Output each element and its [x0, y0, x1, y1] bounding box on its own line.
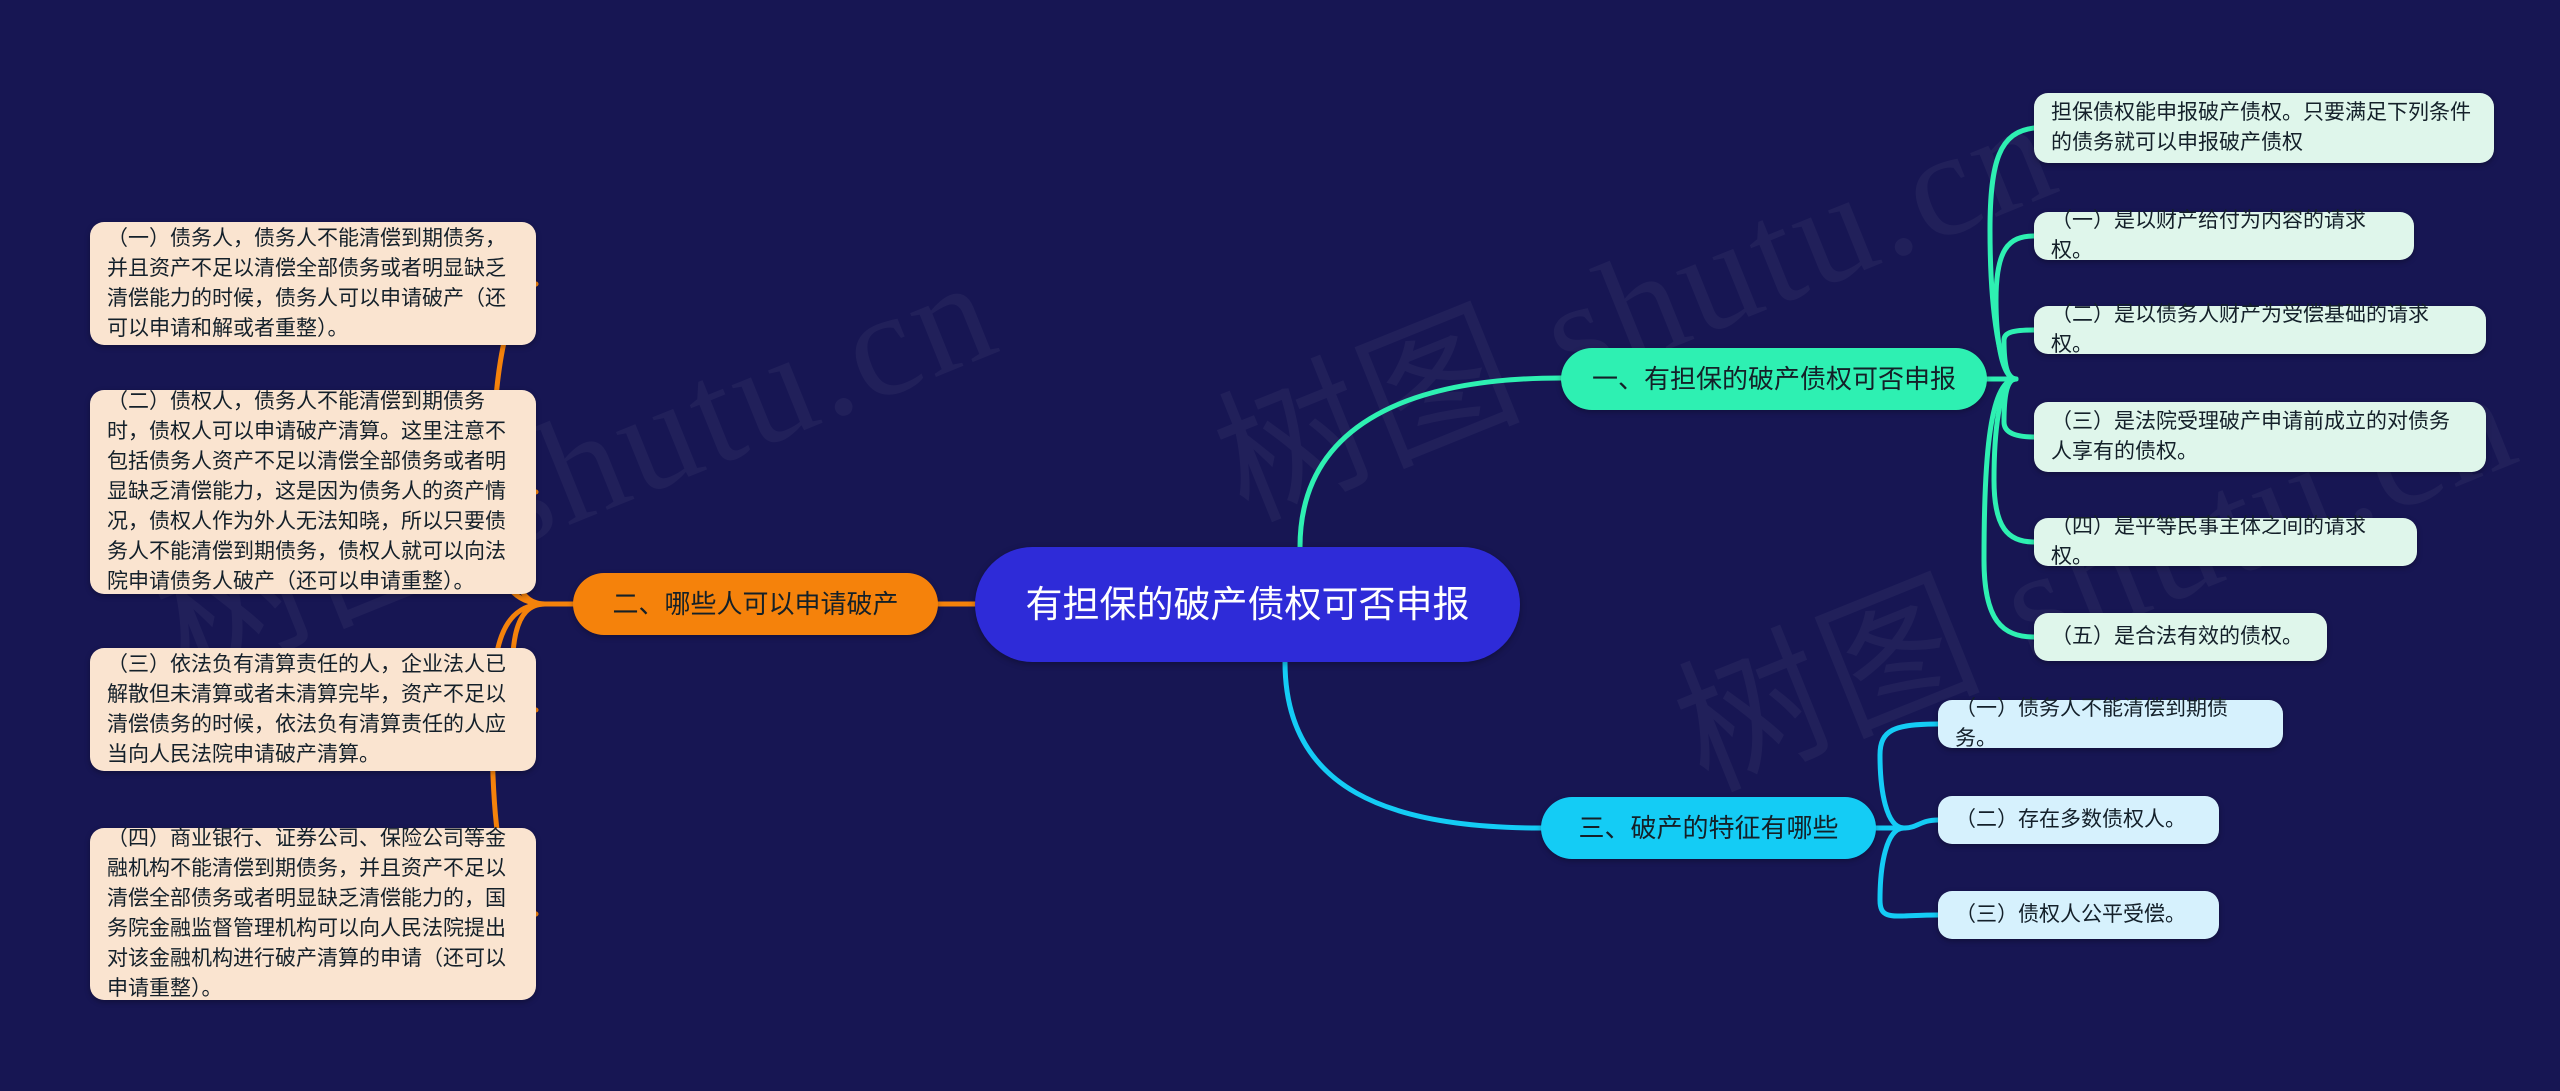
leaf-node[interactable]: （四）商业银行、证券公司、保险公司等金融机构不能清偿到期债务，并且资产不足以清偿…	[90, 828, 536, 1000]
leaf-node-label: 担保债权能申报破产债权。只要满足下列条件的债务就可以申报破产债权	[2034, 85, 2494, 171]
mindmap-canvas: 树图 shutu.cn 树图 shutu.cn 树图 shutu.cn	[0, 0, 2560, 1091]
leaf-node[interactable]: （四）是平等民事主体之间的请求权。	[2034, 518, 2417, 566]
link-green-2	[1996, 236, 2034, 379]
leaf-node[interactable]: （二）存在多数债权人。	[1938, 796, 2219, 844]
link-green-5	[1994, 379, 2034, 542]
link-green-6	[1984, 379, 2034, 637]
leaf-node-label: （三）债权人公平受偿。	[1938, 889, 2219, 941]
leaf-node-label: （三）依法负有清算责任的人，企业法人已解散但未清算或者未清算完毕，资产不足以清偿…	[90, 637, 536, 783]
leaf-node-label: （四）商业银行、证券公司、保险公司等金融机构不能清偿到期债务，并且资产不足以清偿…	[90, 811, 536, 1017]
branch-node-1-label: 一、有担保的破产债权可否申报	[1561, 362, 1987, 396]
leaf-node-label: （一）债务人不能清偿到期债务。	[1938, 683, 2283, 765]
link-cyan-2	[1904, 820, 1938, 828]
root-node-label: 有担保的破产债权可否申报	[975, 581, 1520, 629]
link-green-1	[1990, 128, 2034, 379]
leaf-node-label: （二）债权人，债务人不能清偿到期债务时，债权人可以申请破产清算。这里注意不包括债…	[90, 374, 536, 610]
branch-node-3[interactable]: 三、破产的特征有哪些	[1541, 797, 1876, 859]
leaf-node[interactable]: （三）债权人公平受偿。	[1938, 891, 2219, 939]
leaf-node[interactable]: （二）债权人，债务人不能清偿到期债务时，债权人可以申请破产清算。这里注意不包括债…	[90, 390, 536, 594]
leaf-node-label: （五）是合法有效的债权。	[2034, 611, 2327, 663]
leaf-node-label: （二）存在多数债权人。	[1938, 794, 2219, 846]
leaf-node[interactable]: （一）债务人不能清偿到期债务。	[1938, 700, 2283, 748]
leaf-node-label: （一）是以财产给付为内容的请求权。	[2034, 195, 2414, 277]
leaf-node[interactable]: （三）是法院受理破产申请前成立的对债务人享有的债权。	[2034, 402, 2486, 472]
leaf-node[interactable]: （三）依法负有清算责任的人，企业法人已解散但未清算或者未清算完毕，资产不足以清偿…	[90, 648, 536, 771]
link-green-4	[2004, 379, 2034, 437]
branch-node-2[interactable]: 二、哪些人可以申请破产	[573, 573, 938, 635]
trunk-branch-3	[1285, 662, 1541, 828]
root-node[interactable]: 有担保的破产债权可否申报	[975, 547, 1520, 662]
leaf-node-label: （三）是法院受理破产申请前成立的对债务人享有的债权。	[2034, 394, 2486, 480]
leaf-node[interactable]: （二）是以债务人财产为受偿基础的请求权。	[2034, 306, 2486, 354]
link-green-3	[2004, 330, 2034, 379]
link-cyan-1	[1880, 724, 1938, 828]
branch-node-2-label: 二、哪些人可以申请破产	[573, 587, 938, 621]
trunk-branch-1	[1300, 378, 1561, 547]
leaf-node[interactable]: 担保债权能申报破产债权。只要满足下列条件的债务就可以申报破产债权	[2034, 93, 2494, 163]
leaf-node[interactable]: （一）是以财产给付为内容的请求权。	[2034, 212, 2414, 260]
leaf-node-label: （四）是平等民事主体之间的请求权。	[2034, 501, 2417, 583]
branch-node-3-label: 三、破产的特征有哪些	[1541, 811, 1876, 845]
branch-node-1[interactable]: 一、有担保的破产债权可否申报	[1561, 348, 1987, 410]
leaf-node[interactable]: （一）债务人，债务人不能清偿到期债务，并且资产不足以清偿全部债务或者明显缺乏清偿…	[90, 222, 536, 345]
leaf-node-label: （二）是以债务人财产为受偿基础的请求权。	[2034, 289, 2486, 371]
leaf-node-label: （一）债务人，债务人不能清偿到期债务，并且资产不足以清偿全部债务或者明显缺乏清偿…	[90, 211, 536, 357]
watermark: 树图 shutu.cn	[1180, 28, 2082, 561]
link-cyan-3	[1880, 828, 1938, 916]
leaf-node[interactable]: （五）是合法有效的债权。	[2034, 613, 2327, 661]
